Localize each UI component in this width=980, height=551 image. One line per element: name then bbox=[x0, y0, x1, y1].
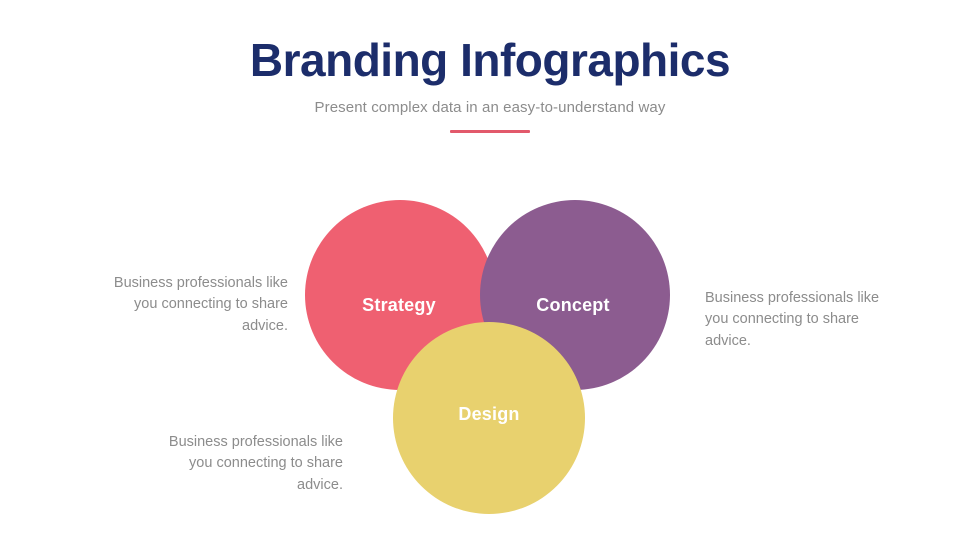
venn-description-concept: Business professionals like you connecti… bbox=[705, 288, 885, 352]
venn-label-concept: Concept bbox=[536, 295, 609, 316]
venn-description-design: Business professionals like you connecti… bbox=[155, 432, 343, 496]
venn-circle-design[interactable]: Design bbox=[393, 322, 585, 514]
venn-label-strategy: Strategy bbox=[362, 295, 436, 316]
venn-description-strategy: Business professionals like you connecti… bbox=[100, 273, 288, 337]
infographic-slide: Branding Infographics Present complex da… bbox=[0, 0, 980, 551]
venn-label-design: Design bbox=[458, 404, 519, 425]
